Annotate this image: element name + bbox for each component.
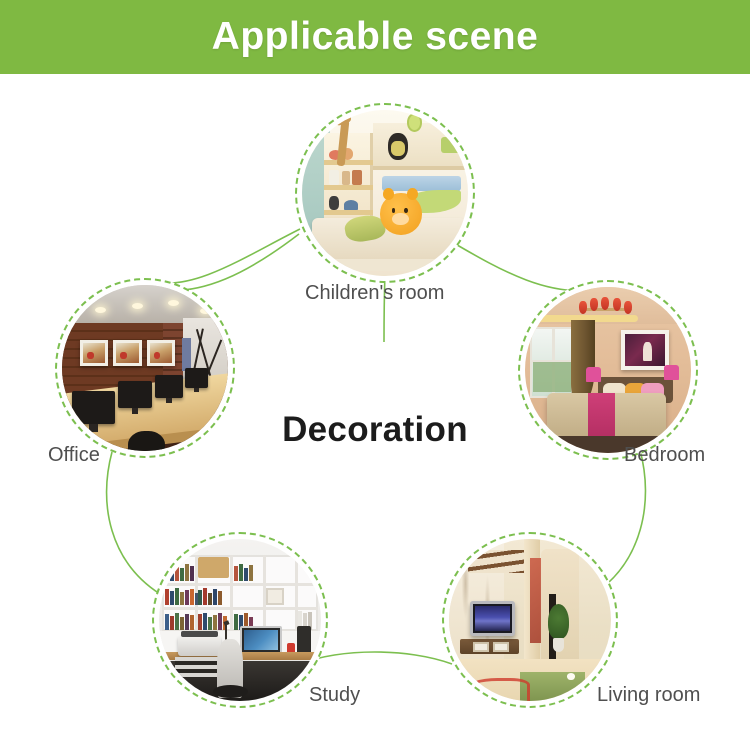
decor-monitor <box>72 391 115 424</box>
decor-shelf <box>324 185 374 190</box>
decor-books <box>165 588 199 606</box>
decor-table-lamp <box>586 367 601 382</box>
decor-chandelier-shade <box>613 298 621 311</box>
decor-shelf <box>324 210 374 215</box>
decor-chandelier <box>575 297 638 319</box>
decor-toy <box>342 171 350 184</box>
decor-toy <box>329 196 339 209</box>
decor-green-panel <box>441 137 468 154</box>
children-room-photo <box>302 110 468 276</box>
decor-green-floor-inlay <box>520 672 585 701</box>
decor-shelf <box>162 607 318 610</box>
children-room-circle[interactable] <box>295 103 475 283</box>
decor-framed-picture <box>80 340 108 367</box>
decor-window-pane <box>182 338 190 371</box>
decor-accent-strip <box>530 558 541 642</box>
decor-monitor <box>185 368 208 388</box>
decor-wall-badge <box>407 113 422 131</box>
bedroom-photo <box>525 287 691 453</box>
decor-toy <box>329 170 339 185</box>
decor-tv-console <box>460 639 518 654</box>
decor-books <box>198 588 222 606</box>
decor-curtain <box>571 320 594 400</box>
page-header: Applicable scene <box>0 0 750 74</box>
decor-framed-picture <box>147 340 175 367</box>
decor-chandelier-shade <box>624 301 632 314</box>
living-room-label: Living room <box>597 684 700 707</box>
decor-storage-box <box>198 557 229 578</box>
decor-books <box>198 612 227 630</box>
children-room-label: Children's room <box>305 282 444 305</box>
living-room-photo <box>449 539 611 701</box>
decor-monitor <box>118 381 151 408</box>
office-photo <box>62 285 228 451</box>
decor-table-lamp <box>664 365 679 380</box>
decor-television <box>470 601 515 637</box>
decor-plush-snout <box>392 213 409 225</box>
decor-books <box>165 612 194 630</box>
decor-photo-frame <box>266 588 284 606</box>
decor-shelf <box>162 583 318 586</box>
decor-plush-eye <box>392 208 396 213</box>
decor-plush-eye <box>404 208 408 213</box>
decor-office-chair <box>217 639 243 697</box>
decor-chair <box>128 431 165 451</box>
decor-plush-bear <box>380 193 422 235</box>
living-room-circle[interactable] <box>442 532 618 708</box>
decor-window-greenery <box>533 362 571 392</box>
decor-shelf <box>324 160 374 165</box>
decor-downlight <box>95 307 106 313</box>
decor-console-drawer <box>493 642 509 652</box>
bedroom-circle[interactable] <box>518 280 698 460</box>
diagram-stage: Decoration <box>0 74 750 750</box>
page-title: Applicable scene <box>212 15 539 59</box>
decor-books <box>234 563 253 581</box>
bedroom-label: Bedroom <box>624 444 705 467</box>
decor-plant <box>548 604 569 640</box>
decor-printer <box>178 636 220 655</box>
office-label: Office <box>48 444 100 467</box>
study-label: Study <box>309 684 360 707</box>
office-circle[interactable] <box>55 278 235 458</box>
decor-chandelier-shade <box>579 301 587 314</box>
decor-bear-toy <box>388 133 408 160</box>
decor-monitor <box>240 626 282 654</box>
decor-books <box>165 562 194 581</box>
decor-speaker <box>297 626 312 654</box>
decor-toy <box>344 200 359 210</box>
decor-floor-pattern <box>465 678 530 701</box>
decor-monitor <box>155 375 183 398</box>
decor-plant-pot <box>553 638 564 653</box>
decor-framed-picture <box>113 340 141 367</box>
decor-paper-trays <box>175 657 220 678</box>
decor-wall-art <box>621 330 669 370</box>
decor-bed-runner <box>588 393 615 439</box>
decor-toy <box>352 170 362 185</box>
decor-console-drawer <box>473 642 489 652</box>
study-photo <box>159 539 321 701</box>
decor-bed-frame <box>315 259 461 271</box>
study-circle[interactable] <box>152 532 328 708</box>
